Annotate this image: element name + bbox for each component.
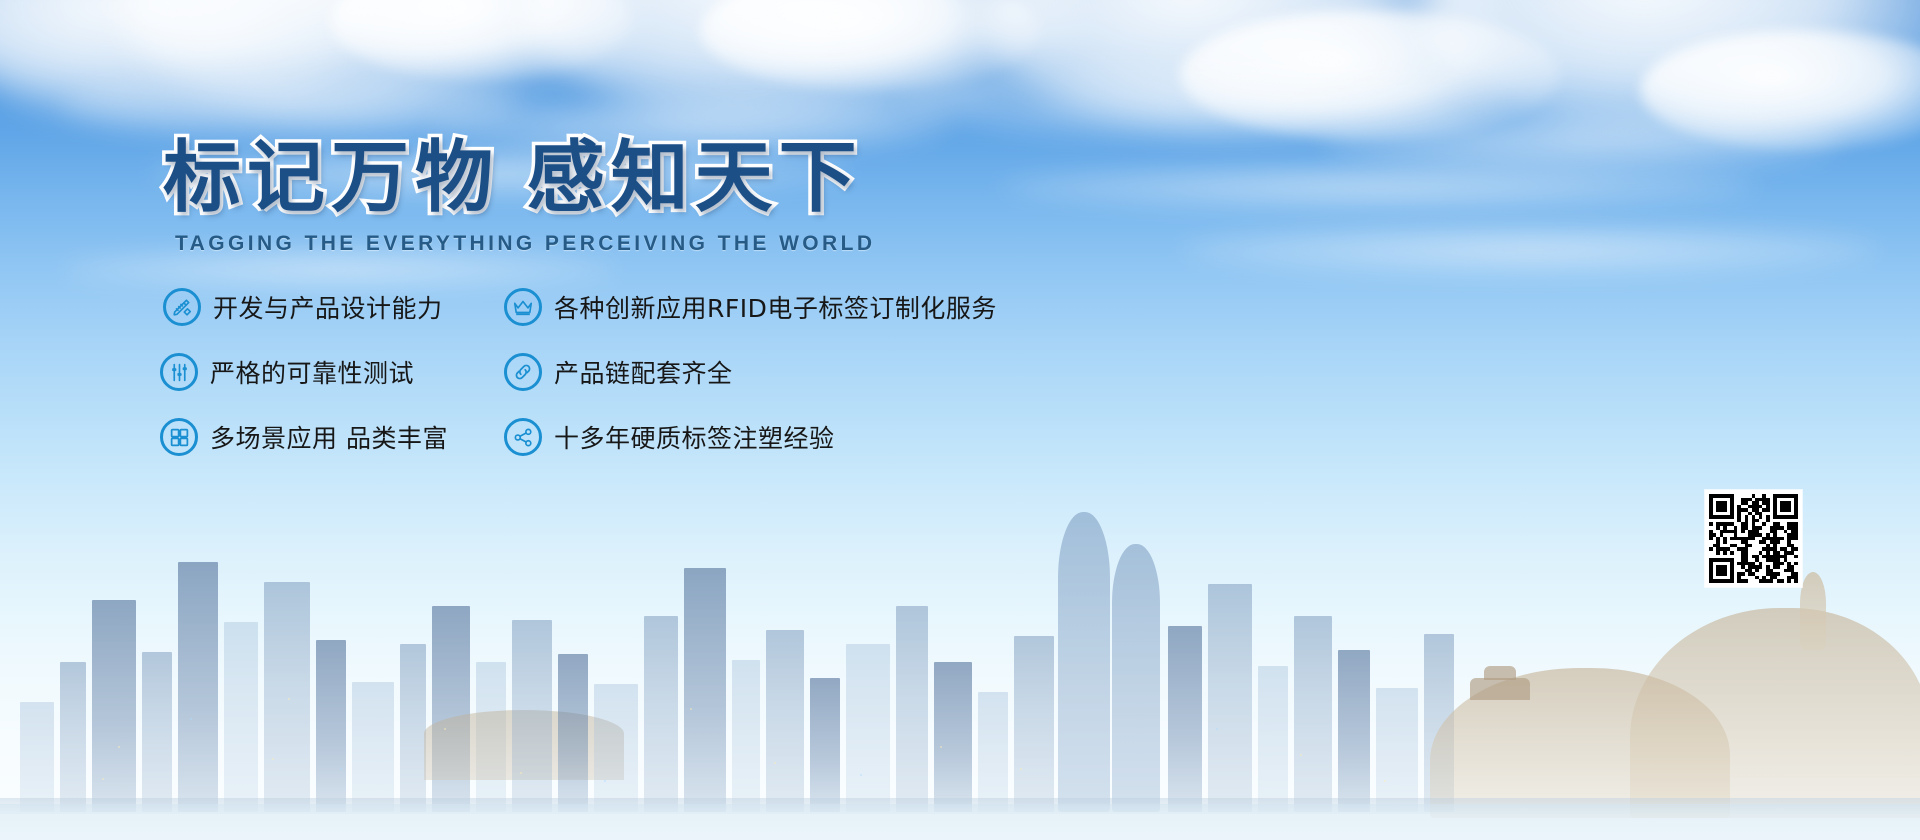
chain-link-icon bbox=[504, 353, 542, 391]
feature-item-experience: 十多年硬质标签注塑经验 bbox=[504, 418, 835, 456]
crown-icon bbox=[504, 288, 542, 326]
feature-label: 开发与产品设计能力 bbox=[213, 289, 443, 325]
qr-code[interactable] bbox=[1705, 490, 1802, 587]
city-lights bbox=[0, 580, 1920, 840]
headline: 标记万物 感知天下 bbox=[163, 138, 863, 216]
feature-label: 严格的可靠性测试 bbox=[210, 354, 414, 390]
feature-label: 十多年硬质标签注塑经验 bbox=[554, 419, 835, 455]
sliders-icon bbox=[160, 353, 198, 391]
grid-squares-icon bbox=[160, 418, 198, 456]
share-nodes-icon bbox=[504, 418, 542, 456]
feature-item-scenarios: 多场景应用 品类丰富 bbox=[160, 418, 448, 456]
feature-item-reliability: 严格的可靠性测试 bbox=[160, 353, 414, 391]
qr-code-matrix bbox=[1709, 494, 1798, 583]
feature-item-rfid-custom: 各种创新应用RFID电子标签订制化服务 bbox=[504, 288, 997, 326]
feature-label: 多场景应用 品类丰富 bbox=[210, 419, 448, 455]
feature-item-product-chain: 产品链配套齐全 bbox=[504, 353, 733, 391]
tagline: TAGGING THE EVERYTHING PERCEIVING THE WO… bbox=[175, 232, 875, 256]
cityscape-silhouette bbox=[0, 440, 1920, 840]
feature-item-design: 开发与产品设计能力 bbox=[163, 288, 443, 326]
feature-label: 产品链配套齐全 bbox=[554, 354, 733, 390]
feature-label: 各种创新应用RFID电子标签订制化服务 bbox=[554, 289, 997, 325]
promo-banner: 标记万物 感知天下 TAGGING THE EVERYTHING PERCEIV… bbox=[0, 0, 1920, 840]
ruler-pencil-icon bbox=[163, 288, 201, 326]
